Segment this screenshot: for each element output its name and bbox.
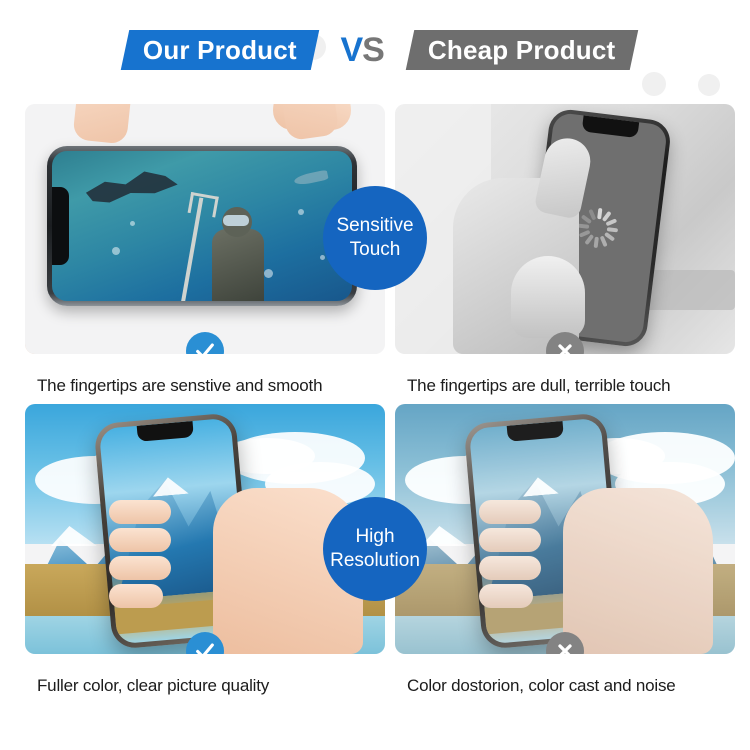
phone-notch bbox=[582, 115, 640, 138]
feature-badge-line1: Sensitive bbox=[336, 214, 413, 238]
game-bubble bbox=[298, 209, 304, 215]
comparison-header: Our Product VS Cheap Product bbox=[0, 0, 750, 100]
scene-mountain-washed bbox=[395, 404, 735, 654]
scene-loading-phone bbox=[395, 104, 735, 354]
screen-snow-cap bbox=[151, 476, 188, 497]
cheap-product-label: Cheap Product bbox=[428, 35, 616, 66]
fingers bbox=[109, 500, 175, 616]
feature-badge-line2: Touch bbox=[350, 238, 401, 262]
panel-touch-cheap: The fingertips are dull, terrible touch bbox=[395, 104, 735, 396]
game-diver bbox=[83, 161, 181, 219]
thumb bbox=[511, 256, 585, 338]
cross-icon bbox=[555, 341, 575, 354]
loading-spinner-icon bbox=[576, 206, 621, 251]
photo-touch-cheap bbox=[395, 104, 735, 354]
vs-letter-s: S bbox=[362, 31, 384, 70]
phone-screen bbox=[52, 151, 352, 301]
screen-snow-cap bbox=[521, 476, 558, 497]
hand-holding-phone bbox=[563, 488, 713, 654]
game-bubble bbox=[320, 255, 325, 260]
decorative-dot bbox=[698, 74, 720, 96]
feature-badge-sensitive-touch: Sensitive Touch bbox=[323, 186, 427, 290]
feature-badge-line2: Resolution bbox=[330, 549, 420, 573]
caption-resolution-cheap: Color dostorion, color cast and noise bbox=[395, 654, 735, 696]
game-character bbox=[192, 203, 284, 301]
game-bubble bbox=[112, 247, 120, 255]
game-bubble bbox=[264, 269, 273, 278]
check-icon bbox=[194, 340, 216, 354]
phone-notch bbox=[507, 421, 564, 442]
cross-icon bbox=[555, 641, 575, 654]
game-trident bbox=[181, 197, 204, 301]
vs-letter-v: V bbox=[340, 31, 362, 70]
decorative-dot bbox=[642, 72, 666, 96]
phone-notch bbox=[52, 187, 69, 265]
caption-touch-ours: The fingertips are senstive and smooth bbox=[25, 354, 385, 396]
feature-badge-line1: High bbox=[355, 525, 394, 549]
phone-notch bbox=[137, 421, 194, 442]
phone-landscape bbox=[47, 146, 357, 306]
game-fish bbox=[293, 170, 328, 187]
check-icon bbox=[194, 640, 216, 654]
vs-separator: VS bbox=[340, 31, 383, 70]
our-product-label: Our Product bbox=[143, 35, 297, 66]
feature-badge-high-resolution: High Resolution bbox=[323, 497, 427, 601]
caption-touch-cheap: The fingertips are dull, terrible touch bbox=[395, 354, 735, 396]
caption-resolution-ours: Fuller color, clear picture quality bbox=[25, 654, 385, 696]
game-character-body bbox=[212, 229, 264, 301]
our-product-banner: Our Product bbox=[120, 30, 318, 70]
cheap-product-banner: Cheap Product bbox=[406, 30, 638, 70]
fingers bbox=[479, 500, 545, 616]
panel-resolution-cheap: Color dostorion, color cast and noise bbox=[395, 404, 735, 696]
game-bubble bbox=[130, 221, 135, 226]
game-character-mask bbox=[223, 215, 249, 226]
photo-resolution-cheap bbox=[395, 404, 735, 654]
